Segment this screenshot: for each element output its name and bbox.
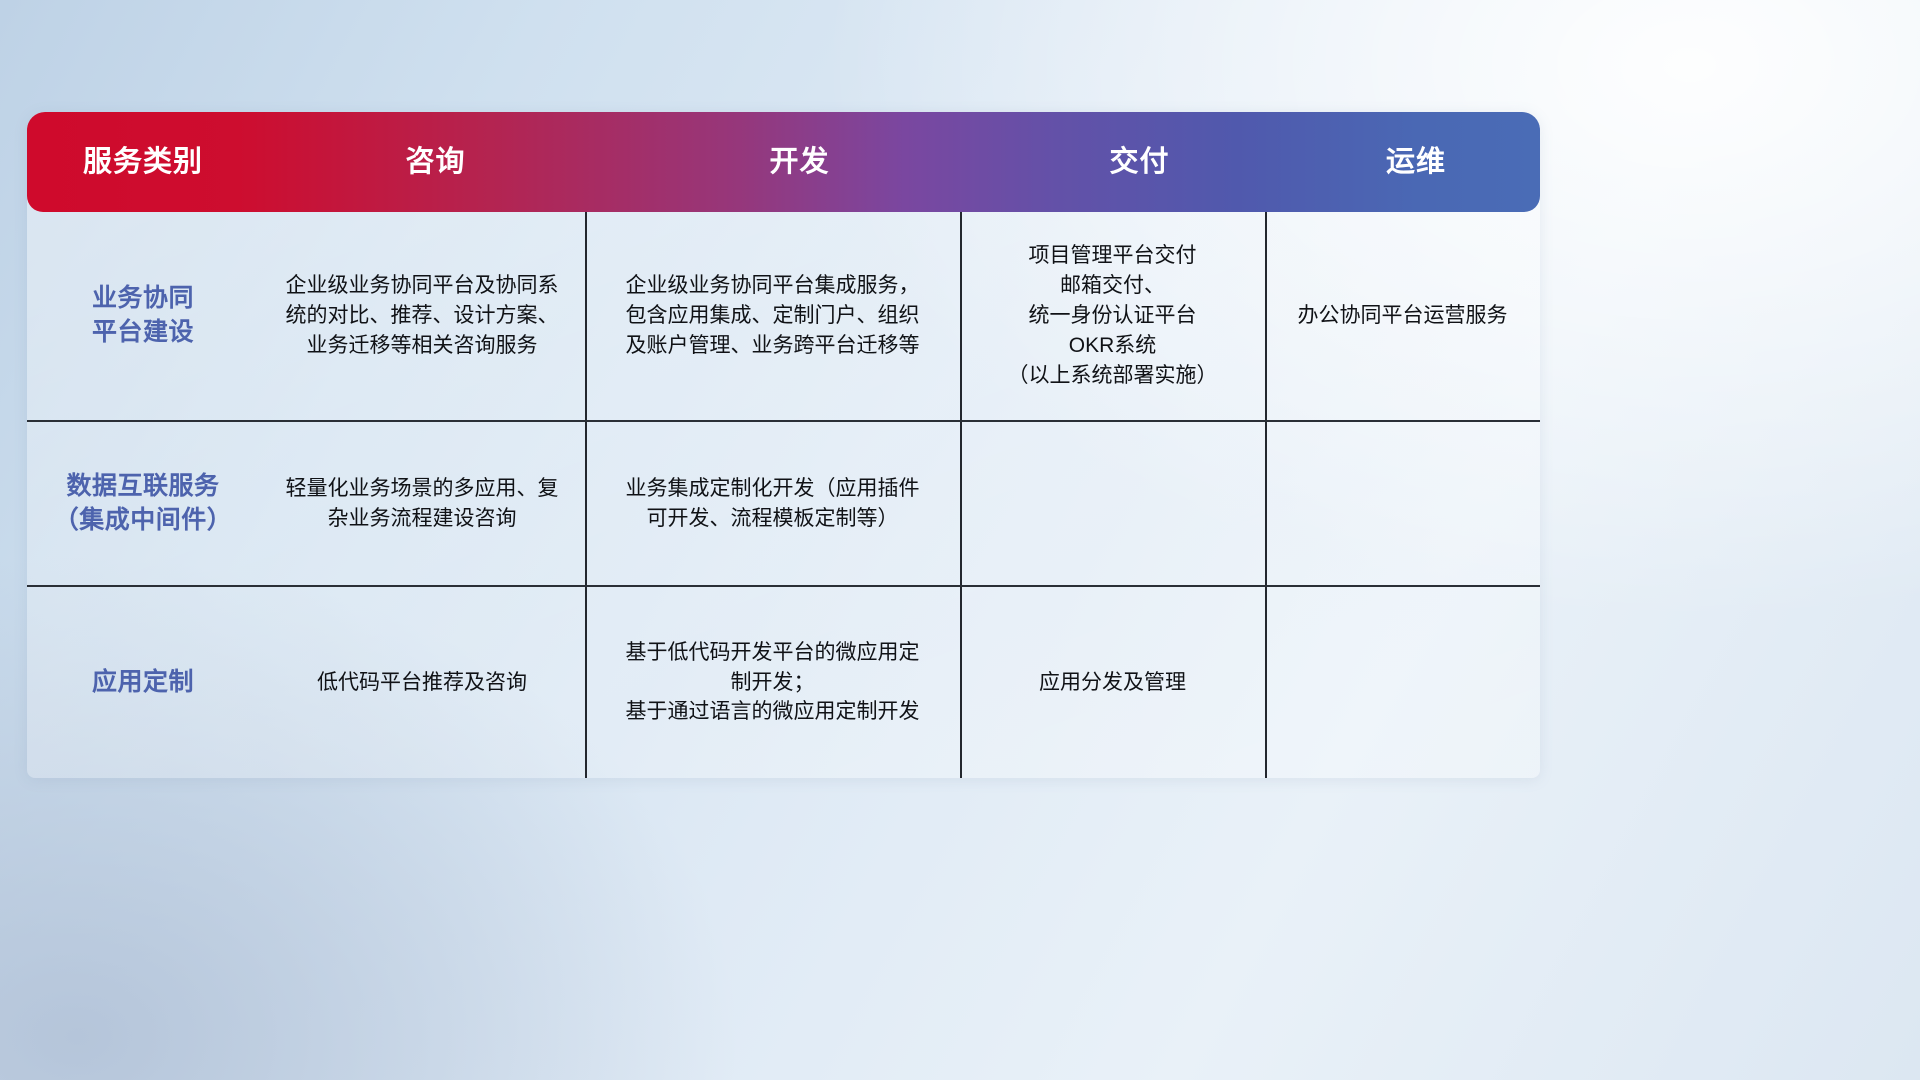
row-3-cell-category: 应用定制 <box>27 587 259 778</box>
column-divider-delivery-operations <box>1265 212 1267 778</box>
table-row: 应用定制 低代码平台推荐及咨询 基于低代码开发平台的微应用定 制开发； 基于通过… <box>27 587 1540 778</box>
table-header-row: 服务类别 咨询 开发 交付 运维 <box>27 112 1540 212</box>
row-1-cell-operations: 办公协同平台运营服务 <box>1265 212 1540 420</box>
cell-text: 业务集成定制化开发（应用插件 可开发、流程模板定制等） <box>626 474 920 534</box>
column-header-development: 开发 <box>612 148 987 177</box>
cell-text: 办公协同平台运营服务 <box>1298 301 1508 331</box>
cell-text: 低代码平台推荐及咨询 <box>317 668 527 698</box>
cell-text: 项目管理平台交付 邮箱交付、 统一身份认证平台 OKR系统 （以上系统部署实施） <box>1008 241 1218 390</box>
column-header-consulting: 咨询 <box>259 148 612 177</box>
row-divider-1 <box>27 420 1540 422</box>
row-3-cell-development: 基于低代码开发平台的微应用定 制开发； 基于通过语言的微应用定制开发 <box>585 587 960 778</box>
row-2-cell-delivery <box>960 422 1265 585</box>
table-body: 业务协同 平台建设 企业级业务协同平台及协同系 统的对比、推荐、设计方案、 业务… <box>27 212 1540 778</box>
column-header-category: 服务类别 <box>27 148 259 177</box>
column-header-delivery: 交付 <box>987 148 1292 177</box>
row-3-cell-consulting: 低代码平台推荐及咨询 <box>259 587 585 778</box>
cell-text: 轻量化业务场景的多应用、复 杂业务流程建设咨询 <box>286 474 559 534</box>
cell-text: 企业级业务协同平台及协同系 统的对比、推荐、设计方案、 业务迁移等相关咨询服务 <box>286 271 559 360</box>
table-row: 数据互联服务 （集成中间件） 轻量化业务场景的多应用、复 杂业务流程建设咨询 业… <box>27 422 1540 585</box>
row-2-cell-consulting: 轻量化业务场景的多应用、复 杂业务流程建设咨询 <box>259 422 585 585</box>
row-1-cell-consulting: 企业级业务协同平台及协同系 统的对比、推荐、设计方案、 业务迁移等相关咨询服务 <box>259 212 585 420</box>
row-3-cell-delivery: 应用分发及管理 <box>960 587 1265 778</box>
cell-text: 应用分发及管理 <box>1039 668 1186 698</box>
row-1-cell-delivery: 项目管理平台交付 邮箱交付、 统一身份认证平台 OKR系统 （以上系统部署实施） <box>960 212 1265 420</box>
category-label: 应用定制 <box>92 666 194 700</box>
row-2-cell-development: 业务集成定制化开发（应用插件 可开发、流程模板定制等） <box>585 422 960 585</box>
table-row: 业务协同 平台建设 企业级业务协同平台及协同系 统的对比、推荐、设计方案、 业务… <box>27 212 1540 420</box>
row-2-cell-category: 数据互联服务 （集成中间件） <box>27 422 259 585</box>
row-1-cell-development: 企业级业务协同平台集成服务， 包含应用集成、定制门户、组织 及账户管理、业务跨平… <box>585 212 960 420</box>
row-1-cell-category: 业务协同 平台建设 <box>27 212 259 420</box>
row-2-cell-operations <box>1265 422 1540 585</box>
column-divider-development-delivery <box>960 212 962 778</box>
cell-text: 基于低代码开发平台的微应用定 制开发； 基于通过语言的微应用定制开发 <box>626 638 920 727</box>
column-header-operations: 运维 <box>1292 148 1540 177</box>
column-divider-consulting-development <box>585 212 587 778</box>
service-matrix-table: 服务类别 咨询 开发 交付 运维 业务协同 平台建设 企业级业务协同平台及协同系… <box>27 112 1540 778</box>
row-3-cell-operations <box>1265 587 1540 778</box>
cell-text: 企业级业务协同平台集成服务， 包含应用集成、定制门户、组织 及账户管理、业务跨平… <box>626 271 920 360</box>
category-label: 数据互联服务 （集成中间件） <box>54 470 233 538</box>
category-label: 业务协同 平台建设 <box>92 282 194 350</box>
row-divider-2 <box>27 585 1540 587</box>
slide-canvas: 服务类别 咨询 开发 交付 运维 业务协同 平台建设 企业级业务协同平台及协同系… <box>0 0 1920 1080</box>
